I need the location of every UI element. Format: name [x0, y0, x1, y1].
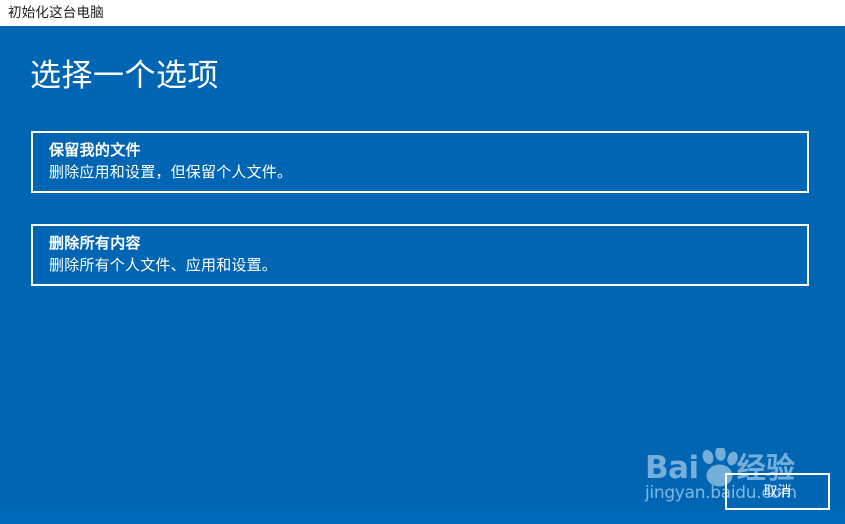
option-text-wrap: 保留我的文件 删除应用和设置，但保留个人文件。 [49, 140, 797, 184]
page-title: 选择一个选项 [30, 56, 219, 96]
reset-pc-panel: 选择一个选项 保留我的文件 删除应用和设置，但保留个人文件。 删除所有内容 删除… [0, 26, 845, 511]
option-description: 删除所有个人文件、应用和设置。 [49, 255, 797, 277]
panel-footer-strip [0, 511, 845, 524]
option-description: 删除应用和设置，但保留个人文件。 [49, 162, 797, 184]
option-remove-everything[interactable]: 删除所有内容 删除所有个人文件、应用和设置。 [31, 224, 809, 286]
option-title: 删除所有内容 [49, 233, 797, 255]
option-text-wrap: 删除所有内容 删除所有个人文件、应用和设置。 [49, 233, 797, 277]
window-titlebar: 初始化这台电脑 [0, 0, 845, 26]
option-title: 保留我的文件 [49, 140, 797, 162]
option-list: 保留我的文件 删除应用和设置，但保留个人文件。 删除所有内容 删除所有个人文件、… [31, 131, 809, 317]
window-title: 初始化这台电脑 [8, 4, 104, 22]
cancel-button[interactable]: 取消 [725, 473, 830, 510]
option-keep-my-files[interactable]: 保留我的文件 删除应用和设置，但保留个人文件。 [31, 131, 809, 193]
